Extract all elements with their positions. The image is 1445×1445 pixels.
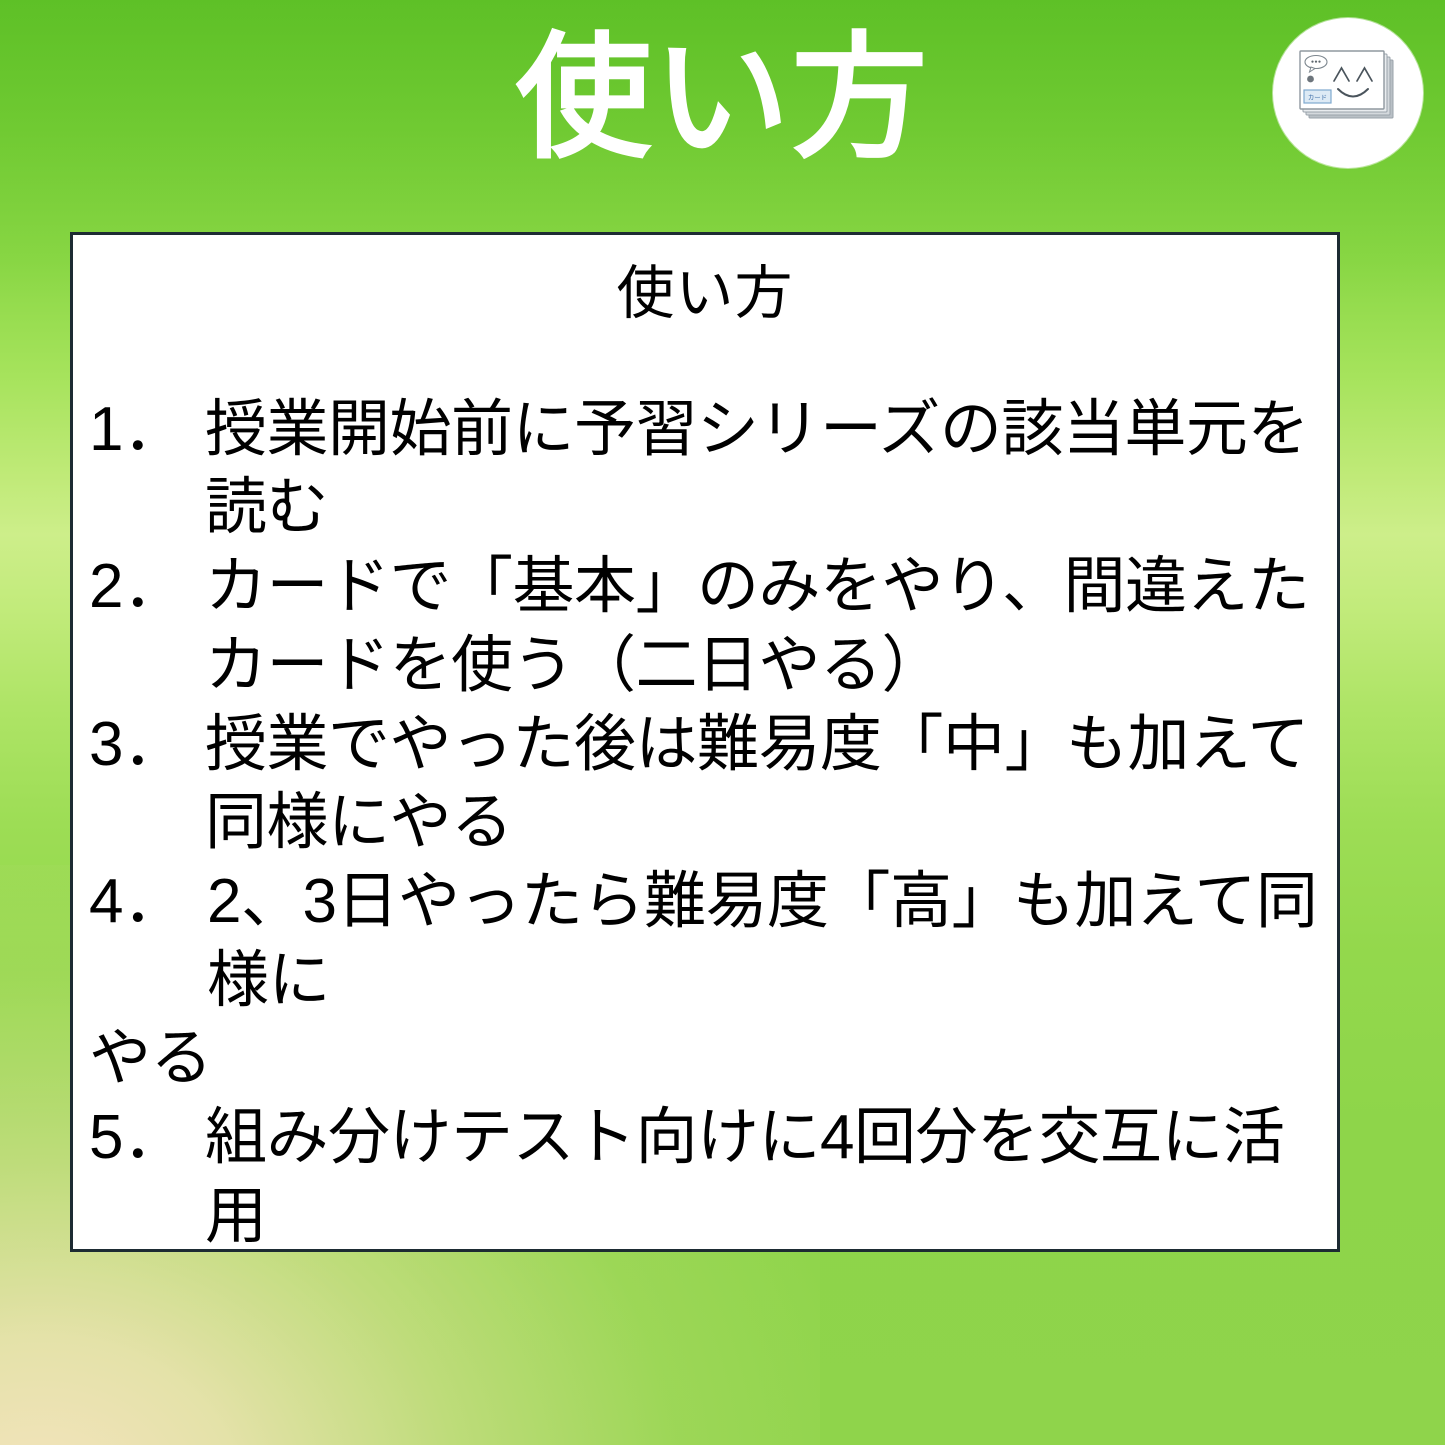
panel-heading: 使い方 [89, 259, 1321, 329]
step-text: 組み分けテスト向けに4回分を交互に活用 [205, 1099, 1321, 1252]
step-number: 2． [89, 548, 207, 627]
instructions-panel: 使い方 1． 授業開始前に予習シリーズの該当単元を読む 2． カードで「基本」の… [70, 232, 1340, 1252]
card-app-logo: カード [1273, 18, 1423, 168]
list-item: 3． 授業でやった後は難易度「中」も加えて同様にやる [89, 706, 1321, 863]
slide-canvas: 使い方 カード 使い方 [0, 0, 1445, 1445]
list-item: 5． 組み分けテスト向けに4回分を交互に活用 [89, 1099, 1321, 1252]
list-item: 1． 授業開始前に予習シリーズの該当単元を読む [89, 391, 1321, 548]
list-item: 4． 2、3日やったら難易度「高」も加えて同様に やる [89, 863, 1321, 1099]
step-text-line-1: 2、3日やったら難易度「高」も加えて同様に [207, 863, 1321, 1020]
steps-list: 1． 授業開始前に予習シリーズの該当単元を読む 2． カードで「基本」のみをやり… [89, 391, 1321, 1252]
step-number: 5． [89, 1099, 207, 1178]
card-stack-smiley-icon: カード [1273, 18, 1423, 168]
step-text: 2、3日やったら難易度「高」も加えて同様に やる [89, 863, 1321, 1099]
page-title: 使い方 [0, 18, 1445, 178]
step-text-line-2: やる [89, 1020, 1321, 1099]
step-text: 授業でやった後は難易度「中」も加えて同様にやる [205, 706, 1321, 863]
step-number: 1． [89, 391, 207, 470]
step-text: カードで「基本」のみをやり、間違えたカードを使う（二日やる） [205, 548, 1321, 705]
list-item: 2． カードで「基本」のみをやり、間違えたカードを使う（二日やる） [89, 548, 1321, 705]
step-text: 授業開始前に予習シリーズの該当単元を読む [205, 391, 1321, 548]
step-number: 3． [89, 706, 207, 785]
card-label-text: カード [1308, 93, 1327, 101]
